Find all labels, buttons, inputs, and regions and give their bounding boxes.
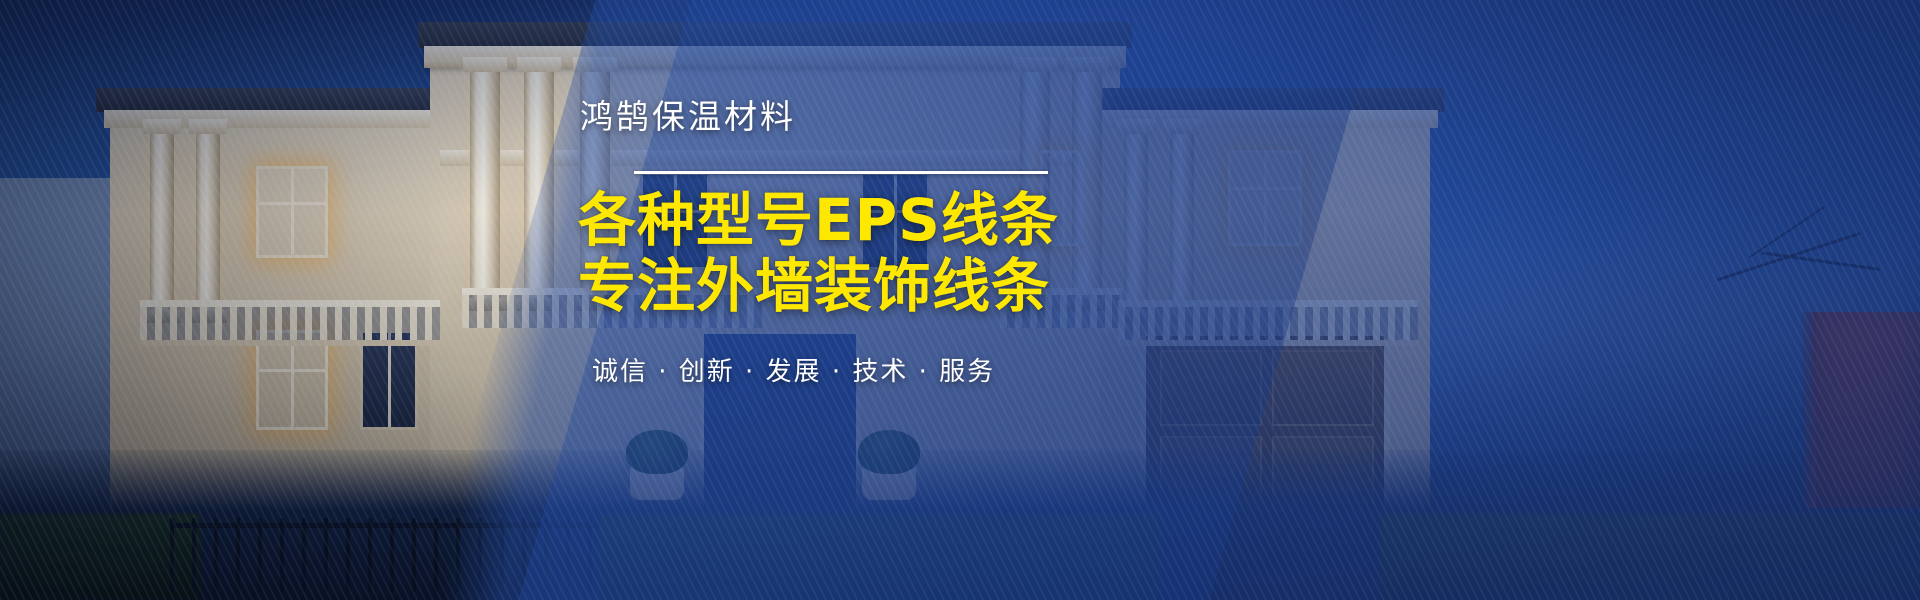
tagline: 诚信 · 创新 · 发展 · 技术 · 服务 bbox=[592, 351, 995, 388]
brand-name: 鸿鹄保温材料 bbox=[580, 96, 796, 137]
hero-banner: 鸿鹄保温材料 各种型号EPS线条 专注外墙装饰线条 诚信 · 创新 · 发展 ·… bbox=[0, 0, 1920, 600]
headline-line-2: 专注外墙装饰线条 bbox=[578, 256, 1050, 317]
headline-line-1: 各种型号EPS线条 bbox=[578, 190, 1059, 251]
banner-text-block: 鸿鹄保温材料 各种型号EPS线条 专注外墙装饰线条 诚信 · 创新 · 发展 ·… bbox=[578, 96, 1048, 388]
divider-rule bbox=[634, 171, 1048, 174]
